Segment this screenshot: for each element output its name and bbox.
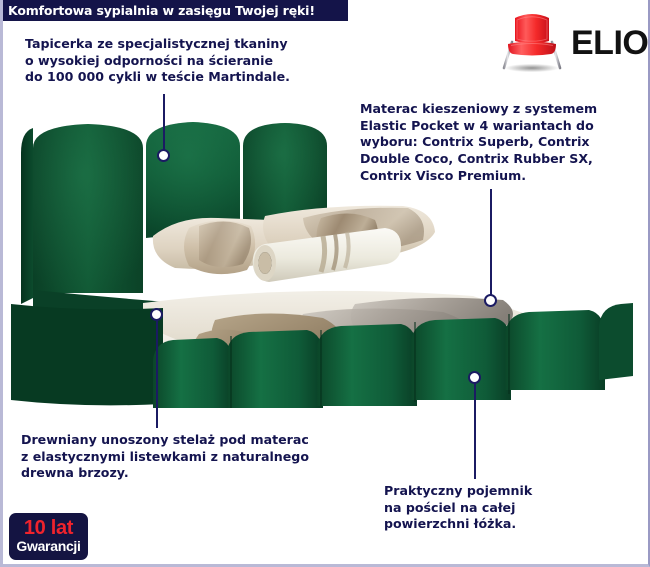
callout-text-upholstery: Tapicerka ze specjalistycznej tkaniny o …	[25, 36, 330, 86]
callout-text-storage: Praktyczny pojemnik na pościel na całej …	[384, 483, 614, 533]
callout-text-slats: Drewniany unoszony stelaż pod materac z …	[21, 432, 341, 482]
brand-logo: ELIOR	[499, 8, 644, 80]
page-title: Komfortowa sypialnia w zasięgu Twojej rę…	[3, 3, 315, 18]
callout-dot-mattress[interactable]	[484, 294, 497, 307]
red-chair-icon	[499, 8, 565, 76]
callout-dot-upholstery[interactable]	[157, 149, 170, 162]
warranty-years: 10 lat	[24, 519, 73, 539]
header-bar: Komfortowa sypialnia w zasięgu Twojej rę…	[3, 0, 348, 21]
callout-dot-storage[interactable]	[468, 371, 481, 384]
connector-line-upholstery	[163, 94, 165, 156]
callout-text-mattress: Materac kieszeniowy z systemem Elastic P…	[360, 101, 628, 185]
connector-line-mattress	[490, 189, 492, 301]
warranty-badge: 10 lat Gwarancji	[9, 513, 88, 560]
connector-line-slats	[156, 316, 158, 428]
brand-name: ELIOR	[571, 26, 650, 60]
connector-line-storage	[474, 379, 476, 479]
warranty-label: Gwarancji	[16, 539, 80, 554]
callout-dot-slats[interactable]	[150, 308, 163, 321]
product-infographic: Komfortowa sypialnia w zasięgu Twojej rę…	[0, 0, 650, 567]
